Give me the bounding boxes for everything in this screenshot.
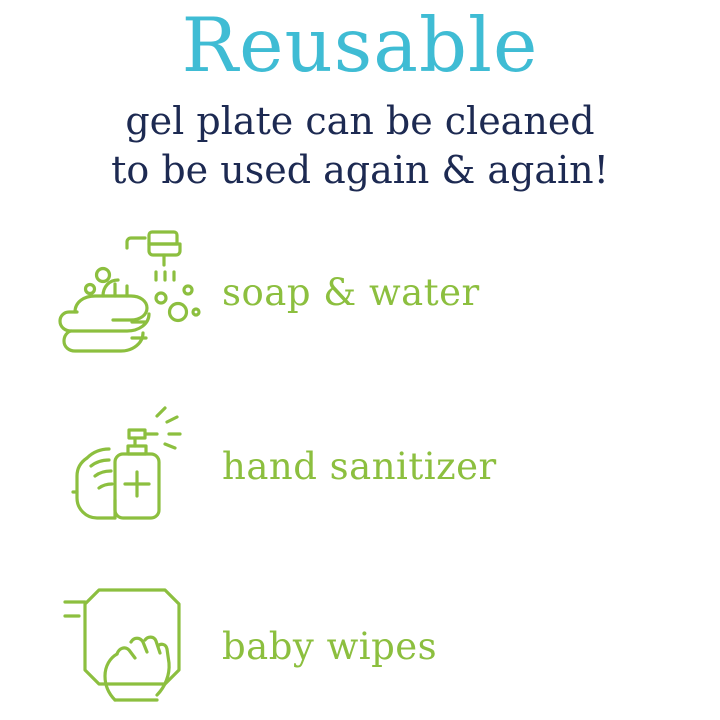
hand-washing-soap-icon [52, 222, 202, 362]
page-subtitle-line-2: to be used again & again! [0, 146, 720, 195]
list-item-label: baby wipes [202, 625, 437, 668]
headline-block: Reusable gel plate can be cleaned to be … [0, 8, 720, 194]
list-item-label: hand sanitizer [202, 445, 497, 488]
list-item: hand sanitizer [52, 396, 672, 536]
list-item-label: soap & water [202, 271, 480, 314]
page-subtitle-line-1: gel plate can be cleaned [0, 97, 720, 146]
list-item: baby wipes [52, 576, 672, 716]
infographic-page: Reusable gel plate can be cleaned to be … [0, 0, 720, 720]
page-subtitle: gel plate can be cleaned to be used agai… [0, 97, 720, 194]
hand-sanitizer-bottle-icon [52, 396, 202, 536]
list-item: soap & water [52, 222, 672, 362]
hand-wiping-cloth-icon [52, 576, 202, 716]
page-title: Reusable [0, 8, 720, 83]
